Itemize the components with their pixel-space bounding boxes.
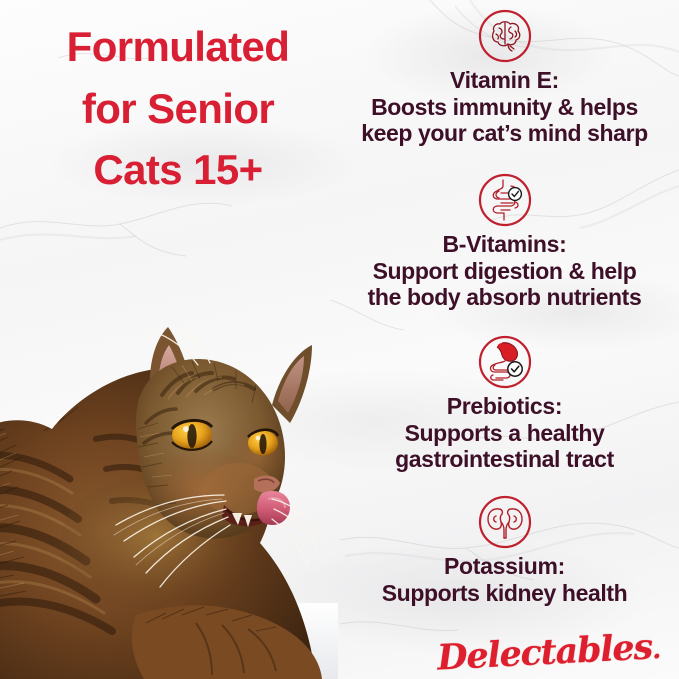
kidneys-icon [477, 494, 533, 550]
benefit-line: Support digestion & help [330, 258, 679, 284]
cat-photo [0, 243, 338, 679]
benefit-line: Supports kidney health [330, 580, 679, 606]
benefit-item-vitamin-e: Vitamin E: Boosts immunity & helps keep … [330, 8, 679, 146]
benefit-line: Boosts immunity & helps [330, 94, 679, 120]
headline: Formulated for Senior Cats 15+ [28, 16, 328, 201]
benefit-item-potassium: Potassium: Supports kidney health [330, 494, 679, 606]
benefit-title: Vitamin E: [330, 68, 679, 94]
headline-line-3: Cats 15+ [28, 139, 328, 201]
benefit-title: B-Vitamins: [330, 232, 679, 258]
benefit-line: keep your cat’s mind sharp [330, 120, 679, 146]
product-benefits-poster: Formulated for Senior Cats 15+ [0, 0, 679, 679]
brand-trailing-mark: . [651, 635, 660, 665]
benefit-title: Prebiotics: [330, 394, 679, 420]
benefit-line: the body absorb nutrients [330, 284, 679, 310]
benefit-item-b-vitamins: B-Vitamins: Support digestion & help the… [330, 172, 679, 310]
brain-icon [477, 8, 533, 64]
intestines-check-icon [477, 172, 533, 228]
headline-line-2: for Senior [28, 78, 328, 140]
benefit-line: gastrointestinal tract [330, 446, 679, 472]
benefit-title: Potassium: [330, 554, 679, 580]
headline-line-1: Formulated [28, 16, 328, 78]
benefit-line: Supports a healthy [330, 420, 679, 446]
benefits-list: Vitamin E: Boosts immunity & helps keep … [330, 0, 679, 679]
benefit-item-prebiotics: Prebiotics: Supports a healthy gastroint… [330, 334, 679, 472]
stomach-intestines-check-icon [477, 334, 533, 390]
